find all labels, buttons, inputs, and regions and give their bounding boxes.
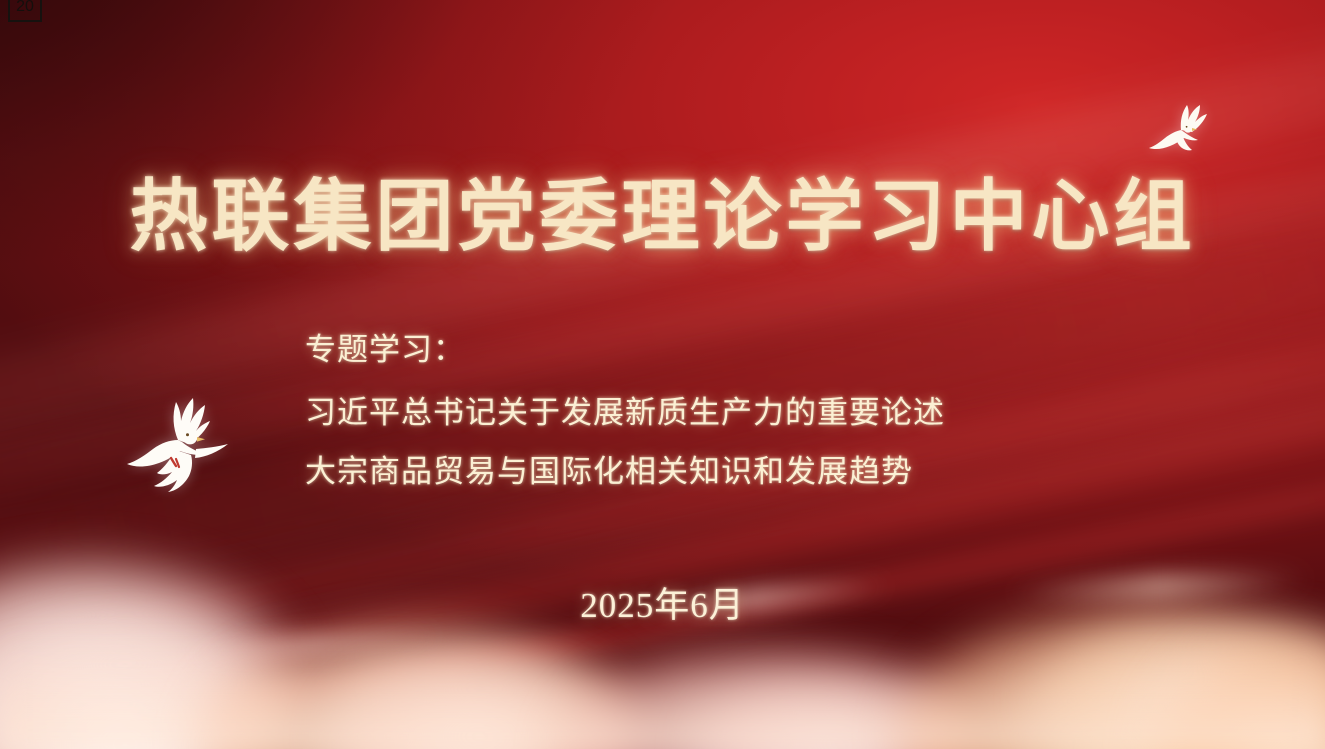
cloud-haze	[0, 629, 1325, 749]
slide-date: 2025年6月	[0, 588, 1325, 623]
presentation-slide: 热联集团党委理论学习中心组 专题学习： 习近平总书记关于发展新质生产力的重要论述…	[0, 0, 1325, 749]
dove-icon	[1137, 100, 1219, 166]
corner-badge[interactable]: 20	[8, 0, 42, 22]
page-title: 热联集团党委理论学习中心组	[0, 178, 1325, 256]
body-topic-1: 习近平总书记关于发展新质生产力的重要论述	[305, 397, 1065, 428]
body-label: 专题学习：	[305, 334, 1065, 365]
dove-icon	[118, 392, 246, 496]
corner-badge-tail	[8, 20, 26, 22]
slide-body: 专题学习： 习近平总书记关于发展新质生产力的重要论述 大宗商品贸易与国际化相关知…	[305, 334, 1065, 487]
cloud-bank	[0, 519, 1325, 749]
body-topic-2: 大宗商品贸易与国际化相关知识和发展趋势	[305, 456, 1065, 487]
